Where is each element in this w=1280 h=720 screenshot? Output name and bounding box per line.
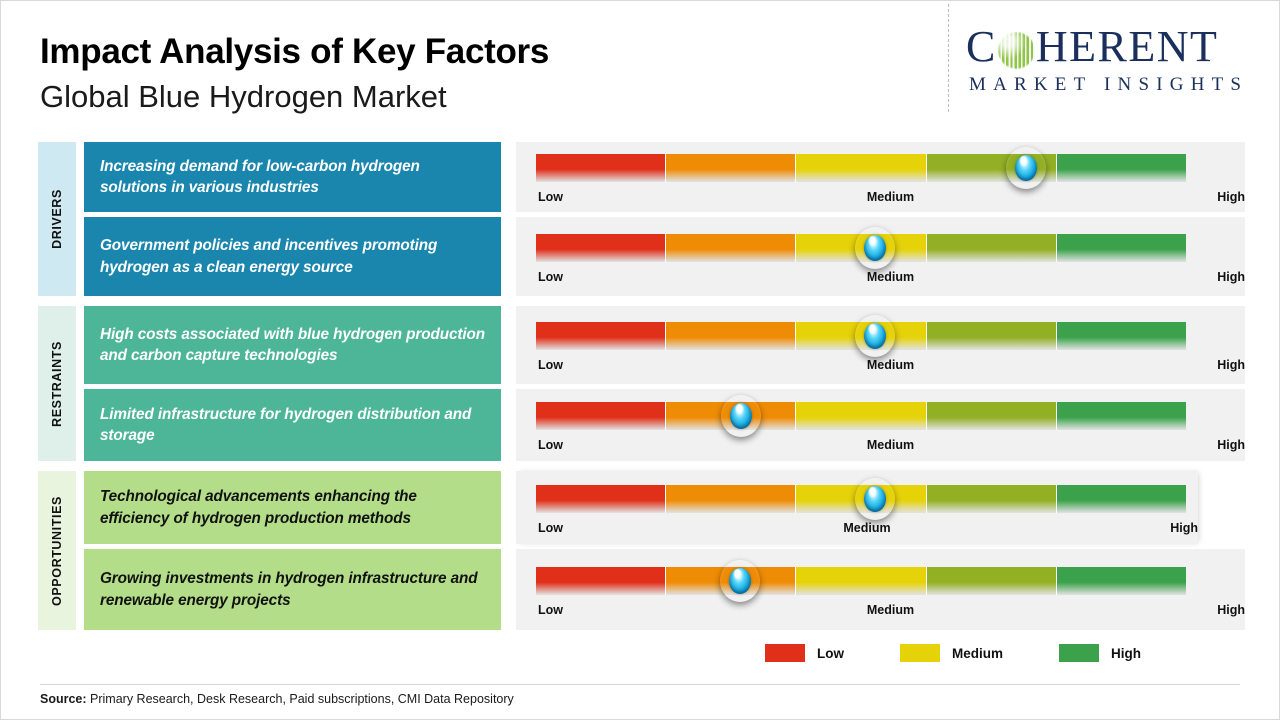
gauge-inner: LowMediumHigh	[536, 389, 1245, 461]
factor-text: High costs associated with blue hydrogen…	[100, 324, 487, 367]
factor-row: Growing investments in hydrogen infrastr…	[84, 549, 1280, 630]
category-text: DRIVERS	[50, 189, 64, 249]
gauge-panel: LowMediumHigh	[516, 549, 1245, 630]
scale-tick-high: High	[1217, 358, 1245, 372]
factor-row: Technological advancements enhancing the…	[84, 471, 1280, 544]
title-block: Impact Analysis of Key Factors Global Bl…	[40, 30, 549, 118]
legend-swatch	[765, 644, 805, 662]
scale-tick-high: High	[1217, 190, 1245, 204]
impact-gauge: LowMediumHigh	[516, 306, 1280, 384]
gauge-scale: LowMediumHigh	[536, 603, 1245, 623]
gauge-panel: LowMediumHigh	[516, 389, 1245, 461]
scale-tick-high: High	[1217, 603, 1245, 617]
gauge-panel: LowMediumHigh	[516, 217, 1245, 296]
impact-marker[interactable]	[855, 478, 895, 520]
band-rows: Technological advancements enhancing the…	[84, 471, 1280, 630]
gauge-scale: LowMediumHigh	[536, 438, 1245, 458]
impact-matrix: DRIVERSIncreasing demand for low-carbon …	[0, 142, 1280, 630]
factor-text: Technological advancements enhancing the…	[100, 486, 487, 529]
legend-swatch	[900, 644, 940, 662]
gauge-panel: LowMediumHigh	[516, 471, 1198, 544]
band-rows: High costs associated with blue hydrogen…	[84, 306, 1280, 461]
gauge-inner: LowMediumHigh	[536, 306, 1245, 384]
logo-word-before: C	[966, 23, 997, 71]
factor-row: Government policies and incentives promo…	[84, 217, 1280, 296]
source-note: Source: Primary Research, Desk Research,…	[40, 692, 514, 706]
legend-item-low: Low	[765, 644, 844, 662]
scale-tick-medium: Medium	[536, 521, 1198, 535]
band-rows: Increasing demand for low-carbon hydroge…	[84, 142, 1280, 296]
factor-card[interactable]: Government policies and incentives promo…	[84, 217, 501, 296]
impact-marker[interactable]	[855, 315, 895, 357]
factor-card[interactable]: Technological advancements enhancing the…	[84, 471, 501, 544]
category-text: OPPORTUNITIES	[50, 496, 64, 606]
category-label-opportunities: OPPORTUNITIES	[38, 471, 76, 630]
slide-header: Impact Analysis of Key Factors Global Bl…	[0, 0, 1280, 128]
logo-word-after: HERENT	[1036, 23, 1219, 71]
factor-text: Increasing demand for low-carbon hydroge…	[100, 156, 487, 199]
scale-tick-medium: Medium	[536, 190, 1245, 204]
gauge-inner: LowMediumHigh	[536, 142, 1245, 212]
scale-tick-high: High	[1170, 521, 1198, 535]
factor-card[interactable]: Increasing demand for low-carbon hydroge…	[84, 142, 501, 212]
coherent-market-insights-logo: C HERENT MARKET INSIGHTS	[966, 22, 1266, 104]
legend-label: Medium	[952, 646, 1003, 661]
gauge-panel: LowMediumHigh	[516, 306, 1245, 384]
impact-gauge: LowMediumHigh	[516, 389, 1280, 461]
gauge-scale: LowMediumHigh	[536, 190, 1245, 210]
scale-tick-medium: Medium	[536, 270, 1245, 284]
dotted-globe-icon	[998, 32, 1035, 69]
factor-text: Limited infrastructure for hydrogen dist…	[100, 404, 487, 447]
impact-marker[interactable]	[721, 395, 761, 437]
gauge-scale: LowMediumHigh	[536, 521, 1198, 541]
legend-label: High	[1111, 646, 1141, 661]
page-subtitle: Global Blue Hydrogen Market	[40, 76, 549, 118]
gauge-inner: LowMediumHigh	[536, 549, 1245, 630]
scale-tick-medium: Medium	[536, 603, 1245, 617]
factor-row: Limited infrastructure for hydrogen dist…	[84, 389, 1280, 461]
factor-text: Growing investments in hydrogen infrastr…	[100, 568, 487, 611]
gauge-inner: LowMediumHigh	[536, 217, 1245, 296]
category-label-drivers: DRIVERS	[38, 142, 76, 296]
legend-label: Low	[817, 646, 844, 661]
scale-tick-medium: Medium	[536, 438, 1245, 452]
impact-marker[interactable]	[855, 227, 895, 269]
gauge-inner: LowMediumHigh	[536, 471, 1198, 544]
source-text: Primary Research, Desk Research, Paid su…	[87, 692, 514, 706]
factor-card[interactable]: High costs associated with blue hydrogen…	[84, 306, 501, 384]
scale-tick-high: High	[1217, 438, 1245, 452]
logo-tagline: MARKET INSIGHTS	[966, 74, 1266, 96]
logo-divider	[948, 4, 949, 112]
impact-gauge: LowMediumHigh	[516, 142, 1280, 212]
impact-legend: LowMediumHigh	[765, 644, 1141, 662]
band-restraints: RESTRAINTSHigh costs associated with blu…	[0, 306, 1280, 461]
category-text: RESTRAINTS	[50, 341, 64, 427]
impact-marker[interactable]	[1006, 147, 1046, 189]
factor-row: Increasing demand for low-carbon hydroge…	[84, 142, 1280, 212]
impact-gauge: LowMediumHigh	[516, 549, 1280, 630]
gauge-panel: LowMediumHigh	[516, 142, 1245, 212]
source-label: Source:	[40, 692, 87, 706]
factor-row: High costs associated with blue hydrogen…	[84, 306, 1280, 384]
gauge-scale: LowMediumHigh	[536, 270, 1245, 290]
impact-gauge: LowMediumHigh	[516, 217, 1280, 296]
legend-item-medium: Medium	[900, 644, 1003, 662]
impact-marker[interactable]	[720, 560, 760, 602]
legend-item-high: High	[1059, 644, 1141, 662]
band-opportunities: OPPORTUNITIESTechnological advancements …	[0, 471, 1280, 630]
factor-text: Government policies and incentives promo…	[100, 235, 487, 278]
page-title: Impact Analysis of Key Factors	[40, 30, 549, 74]
factor-card[interactable]: Growing investments in hydrogen infrastr…	[84, 549, 501, 630]
scale-tick-high: High	[1217, 270, 1245, 284]
factor-card[interactable]: Limited infrastructure for hydrogen dist…	[84, 389, 501, 461]
gauge-scale: LowMediumHigh	[536, 358, 1245, 378]
category-label-restraints: RESTRAINTS	[38, 306, 76, 461]
legend-swatch	[1059, 644, 1099, 662]
footer-divider	[40, 684, 1240, 685]
band-drivers: DRIVERSIncreasing demand for low-carbon …	[0, 142, 1280, 296]
impact-gauge: LowMediumHigh	[516, 471, 1280, 544]
logo-wordmark: C HERENT	[966, 22, 1266, 72]
scale-tick-medium: Medium	[536, 358, 1245, 372]
slide-canvas: Impact Analysis of Key Factors Global Bl…	[0, 0, 1280, 720]
